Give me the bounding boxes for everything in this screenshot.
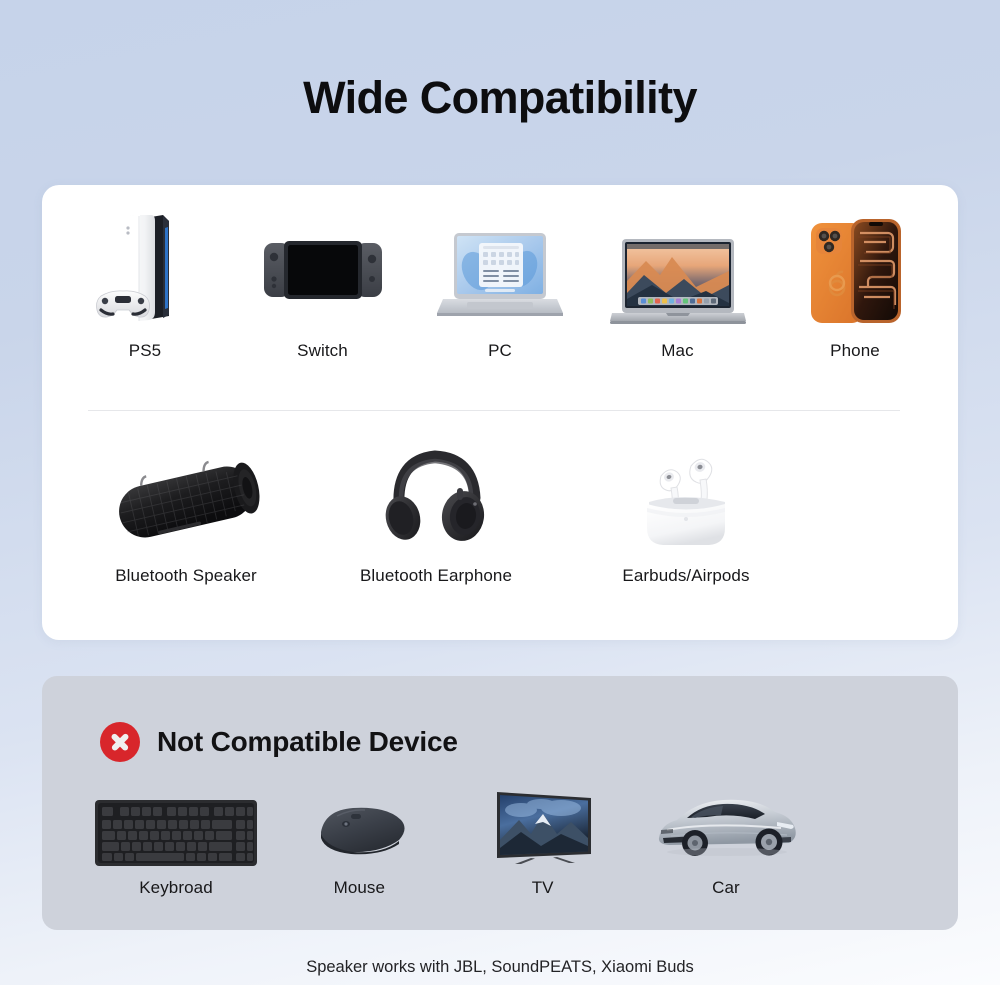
car-icon bbox=[636, 778, 816, 866]
over-ear-headphones-icon bbox=[336, 440, 536, 550]
wide-compatibility-page: Wide Compatibility bbox=[0, 0, 1000, 985]
red-x-circle-icon bbox=[100, 722, 140, 762]
keyboard-icon bbox=[86, 778, 266, 866]
device-label: Keybroad bbox=[139, 878, 213, 898]
playstation5-console-icon bbox=[60, 212, 230, 327]
device-label: Bluetooth Earphone bbox=[360, 566, 512, 586]
page-title: Wide Compatibility bbox=[0, 72, 1000, 124]
not-compatible-title: Not Compatible Device bbox=[157, 726, 458, 758]
footer-note: Speaker works with JBL, SoundPEATS, Xiao… bbox=[0, 958, 1000, 977]
device-item-earbuds: Earbuds/Airpods bbox=[586, 440, 786, 586]
mouse-icon bbox=[269, 778, 449, 866]
windows-laptop-icon bbox=[415, 212, 585, 327]
not-compatible-header: Not Compatible Device bbox=[100, 722, 458, 762]
device-item-keyboard: Keybroad bbox=[86, 778, 266, 898]
device-item-pc: PC bbox=[415, 212, 585, 361]
device-item-tv: TV bbox=[453, 778, 633, 898]
compatible-row-audio: Bluetooth Speaker bbox=[86, 440, 786, 586]
device-label: Phone bbox=[830, 341, 880, 361]
bluetooth-speaker-icon bbox=[86, 440, 286, 550]
not-compatible-row: Keybroad Mouse bbox=[86, 778, 816, 898]
device-label: Bluetooth Speaker bbox=[115, 566, 257, 586]
device-label: Car bbox=[712, 878, 740, 898]
device-label: Earbuds/Airpods bbox=[622, 566, 749, 586]
device-label: Mac bbox=[661, 341, 693, 361]
device-item-ps5: PS5 bbox=[60, 212, 230, 361]
device-item-mac: Mac bbox=[593, 212, 763, 361]
smartphone-icon bbox=[770, 212, 940, 327]
earbuds-case-icon bbox=[586, 440, 786, 550]
device-item-mouse: Mouse bbox=[269, 778, 449, 898]
card-divider bbox=[88, 410, 900, 411]
device-item-switch: Switch bbox=[238, 212, 408, 361]
device-item-bluetooth-speaker: Bluetooth Speaker bbox=[86, 440, 286, 586]
nintendo-switch-icon bbox=[238, 212, 408, 327]
compatible-row-primary: PS5 bbox=[60, 212, 940, 361]
device-item-bluetooth-earphone: Bluetooth Earphone bbox=[336, 440, 536, 586]
device-label: PC bbox=[488, 341, 512, 361]
device-item-phone: Phone bbox=[770, 212, 940, 361]
television-icon bbox=[453, 778, 633, 866]
device-label: PS5 bbox=[129, 341, 161, 361]
device-label: Switch bbox=[297, 341, 348, 361]
device-label: TV bbox=[532, 878, 554, 898]
device-label: Mouse bbox=[334, 878, 386, 898]
macbook-laptop-icon bbox=[593, 212, 763, 327]
device-item-car: Car bbox=[636, 778, 816, 898]
